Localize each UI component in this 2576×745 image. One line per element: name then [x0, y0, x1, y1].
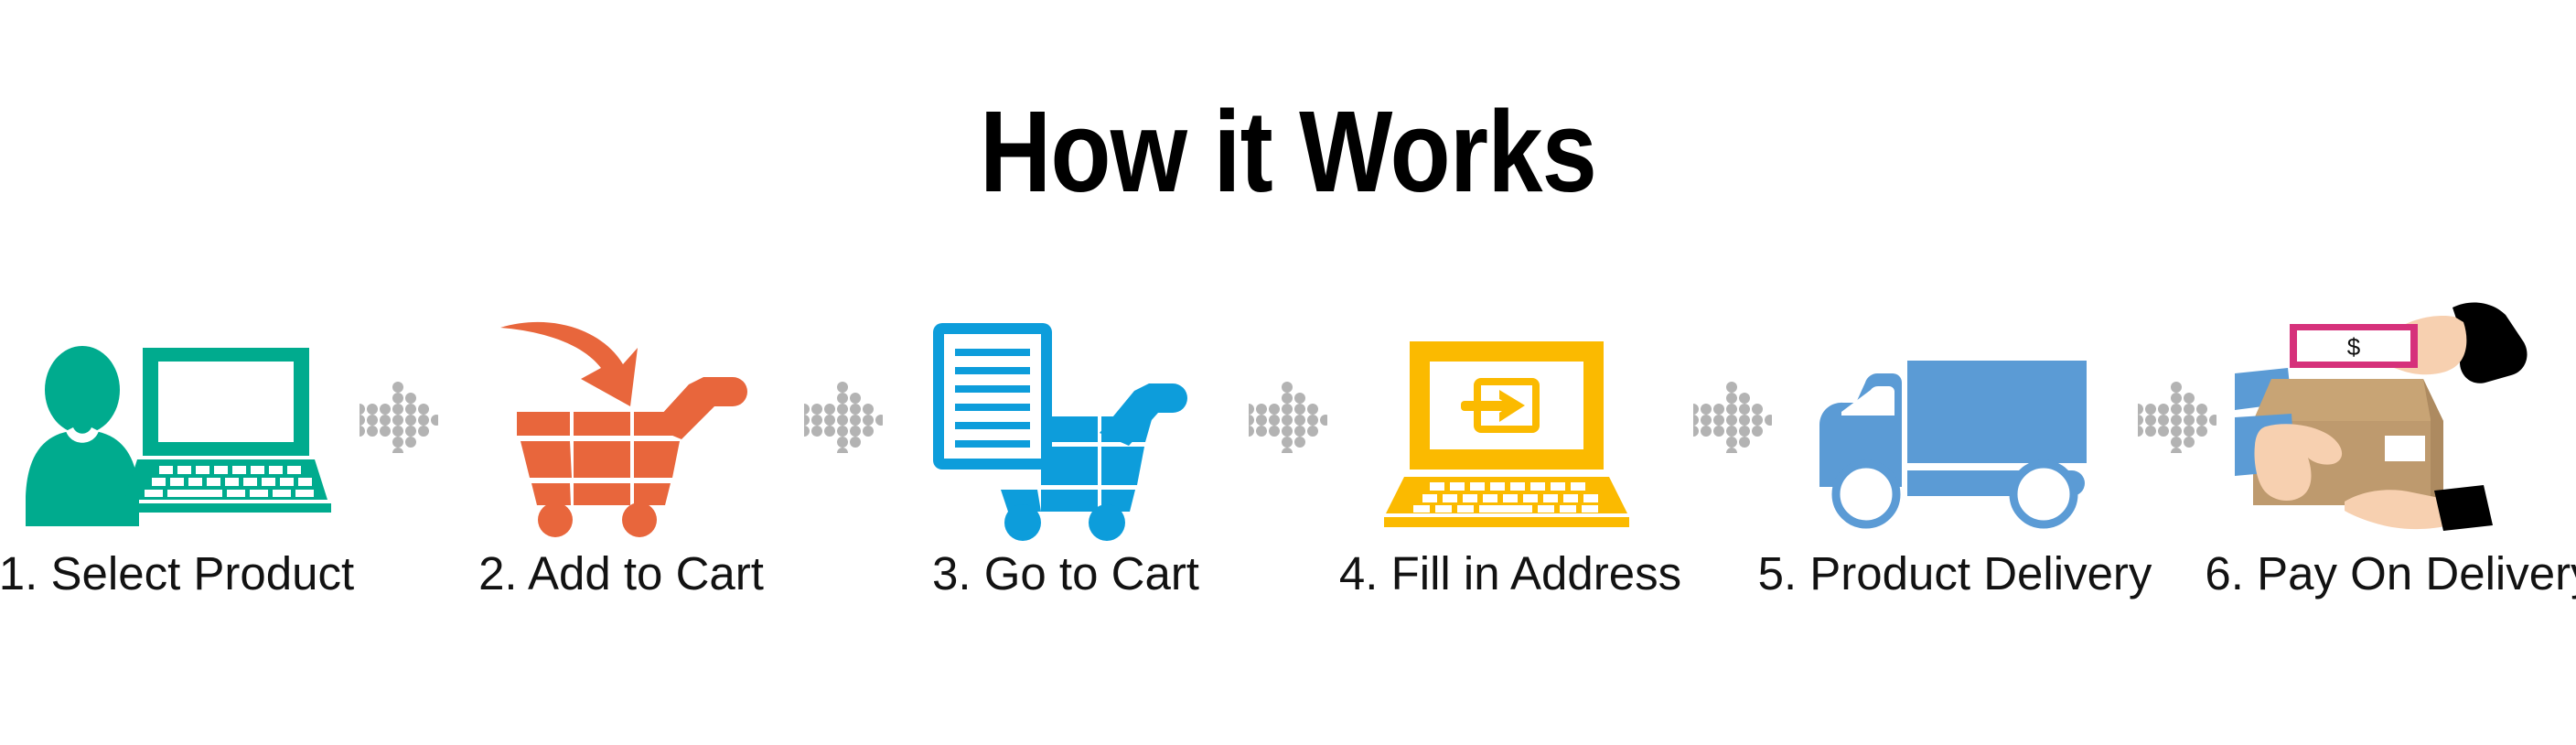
dotted-arrow-right-icon: [804, 302, 883, 531]
page-title: How it Works: [180, 88, 2396, 216]
dotted-arrow-right-icon: [1693, 302, 1772, 531]
cart-with-arrow-icon: [438, 302, 804, 531]
laptop-login-icon: [1327, 302, 1693, 531]
person-with-laptop-icon: [0, 302, 360, 531]
step-label: 1. Select Product: [0, 547, 354, 600]
shipping-label: [2385, 436, 2425, 461]
step-label: 5. Product Delivery: [1758, 547, 2152, 600]
step-fill-in-address[interactable]: 4. Fill in Address: [1327, 302, 1693, 632]
step-pay-on-delivery[interactable]: $: [2216, 302, 2576, 632]
dotted-arrow-right-icon: [1249, 302, 1327, 531]
step-add-to-cart[interactable]: 2. Add to Cart: [438, 302, 804, 632]
infographic-page: How it Works: [0, 0, 2576, 745]
step-label: 2. Add to Cart: [478, 547, 764, 600]
dotted-arrow-right-icon: [360, 302, 438, 531]
step-label: 4. Fill in Address: [1339, 547, 1681, 600]
delivery-truck-icon: [1772, 302, 2138, 531]
steps-row: 1. Select Product: [0, 302, 2576, 632]
currency-symbol: $: [2347, 333, 2361, 361]
step-label: 6. Pay On Delivery: [2205, 547, 2576, 600]
document-with-cart-icon: [883, 302, 1249, 531]
step-go-to-cart[interactable]: 3. Go to Cart: [883, 302, 1249, 632]
step-label: 3. Go to Cart: [932, 547, 1199, 600]
dotted-arrow-right-icon: [2138, 302, 2216, 531]
customer-sleeve-bottom: [2434, 485, 2493, 531]
hands-box-cash-icon: $: [2216, 302, 2576, 531]
step-select-product[interactable]: 1. Select Product: [0, 302, 360, 632]
step-product-delivery[interactable]: 5. Product Delivery: [1772, 302, 2138, 632]
